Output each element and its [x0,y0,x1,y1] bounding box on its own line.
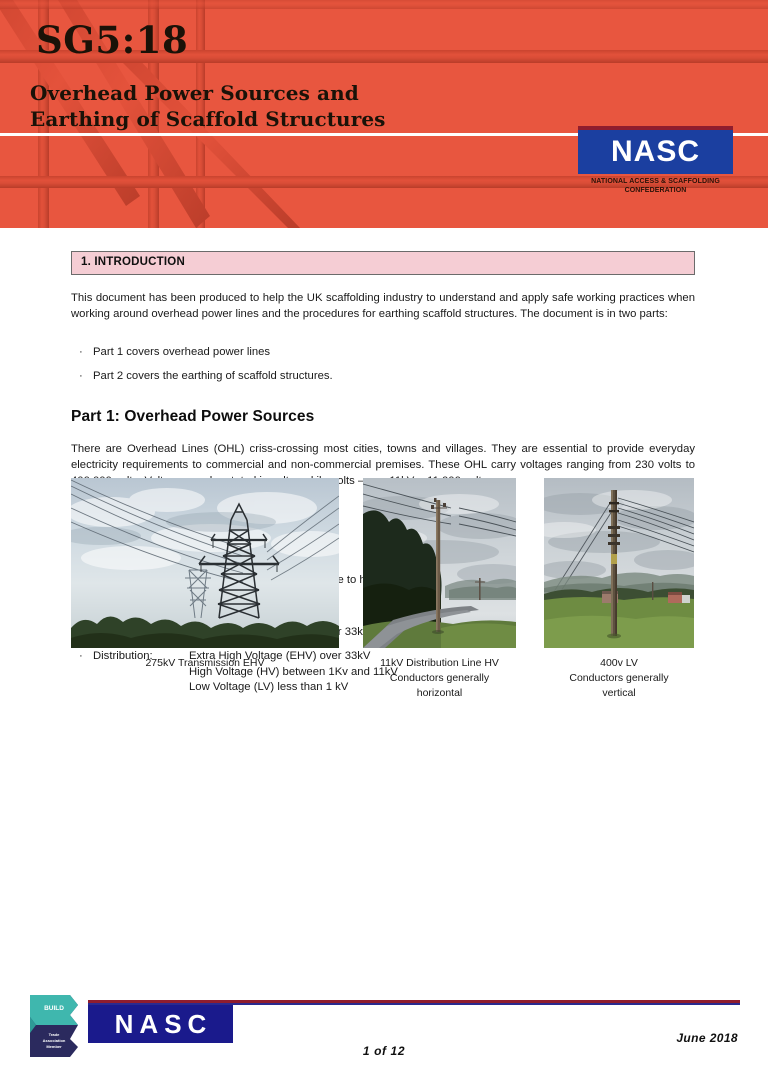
nasc-logo-tagline-line-1: NATIONAL ACCESS & SCAFFOLDING [578,177,733,186]
figure-transmission: 275kV Transmission EHV [71,478,339,671]
figure-caption: 400v LV Conductors generally vertical [544,656,694,702]
list-item: · Part 1 covers overhead power lines [71,345,695,360]
figure-caption-line-3: horizontal [363,686,516,701]
intro-paragraph: This document has been produced to help … [71,290,695,322]
list-item: · Part 2 covers the earthing of scaffold… [71,369,695,384]
svg-text:Association: Association [43,1038,66,1043]
figure-caption-line-1: 400v LV [544,656,694,671]
figure-lv: 400v LV Conductors generally vertical [544,478,694,702]
build-uk-wordmark: BUILD [44,1005,64,1012]
nasc-logo-header: NASC NATIONAL ACCESS & SCAFFOLDING CONFE… [578,126,733,196]
publication-date: June 2018 [676,1031,738,1045]
lv-pole-photo [544,478,694,648]
document-title-line-2: Earthing of Scaffold Structures [30,106,386,132]
nasc-logo-tagline: NATIONAL ACCESS & SCAFFOLDING CONFEDERAT… [578,177,733,196]
header-banner: SG5:18 Overhead Power Sources and Earthi… [0,0,768,228]
nasc-logo-wordmark: NASC [578,130,733,174]
list-item-label: Part 1 covers overhead power lines [93,346,270,358]
figure-caption-line-2: Conductors generally [363,671,516,686]
document-title: Overhead Power Sources and Earthing of S… [30,80,386,133]
figure-caption-line-1: 275kV Transmission EHV [71,656,339,671]
intro-bullet-list: · Part 1 covers overhead power lines · P… [71,345,695,385]
figure-caption: 275kV Transmission EHV [71,656,339,671]
figure-caption-line-1: 11kV Distribution Line HV [363,656,516,671]
page-number: 1 of 12 [0,1044,768,1058]
nasc-logo-tagline-line-2: CONFEDERATION [578,186,733,195]
figure-distribution: 11kV Distribution Line HV Conductors gen… [363,478,516,702]
figure-caption-line-3: vertical [544,686,694,701]
section-heading-label: 1. INTRODUCTION [81,256,185,268]
part1-heading: Part 1: Overhead Power Sources [71,408,314,426]
svg-text:Trade: Trade [49,1032,60,1037]
document-code: SG5:18 [36,22,188,59]
transmission-pylon-photo [71,478,339,648]
figure-caption: 11kV Distribution Line HV Conductors gen… [363,656,516,702]
section-heading-banner: 1. INTRODUCTION [71,251,695,275]
page-footer: BUILD Trade Association Member NASC 1 of… [0,990,768,1086]
nasc-logo-footer: NASC [88,1005,233,1043]
list-item-label: Part 2 covers the earthing of scaffold s… [93,370,333,382]
bullet-dot-icon: · [79,345,83,360]
document-title-line-1: Overhead Power Sources and [30,80,386,106]
figure-caption-line-2: Conductors generally [544,671,694,686]
bullet-dot-icon: · [79,369,83,384]
figure-row: 275kV Transmission EHV [0,478,768,708]
distribution-pole-photo [363,478,516,648]
